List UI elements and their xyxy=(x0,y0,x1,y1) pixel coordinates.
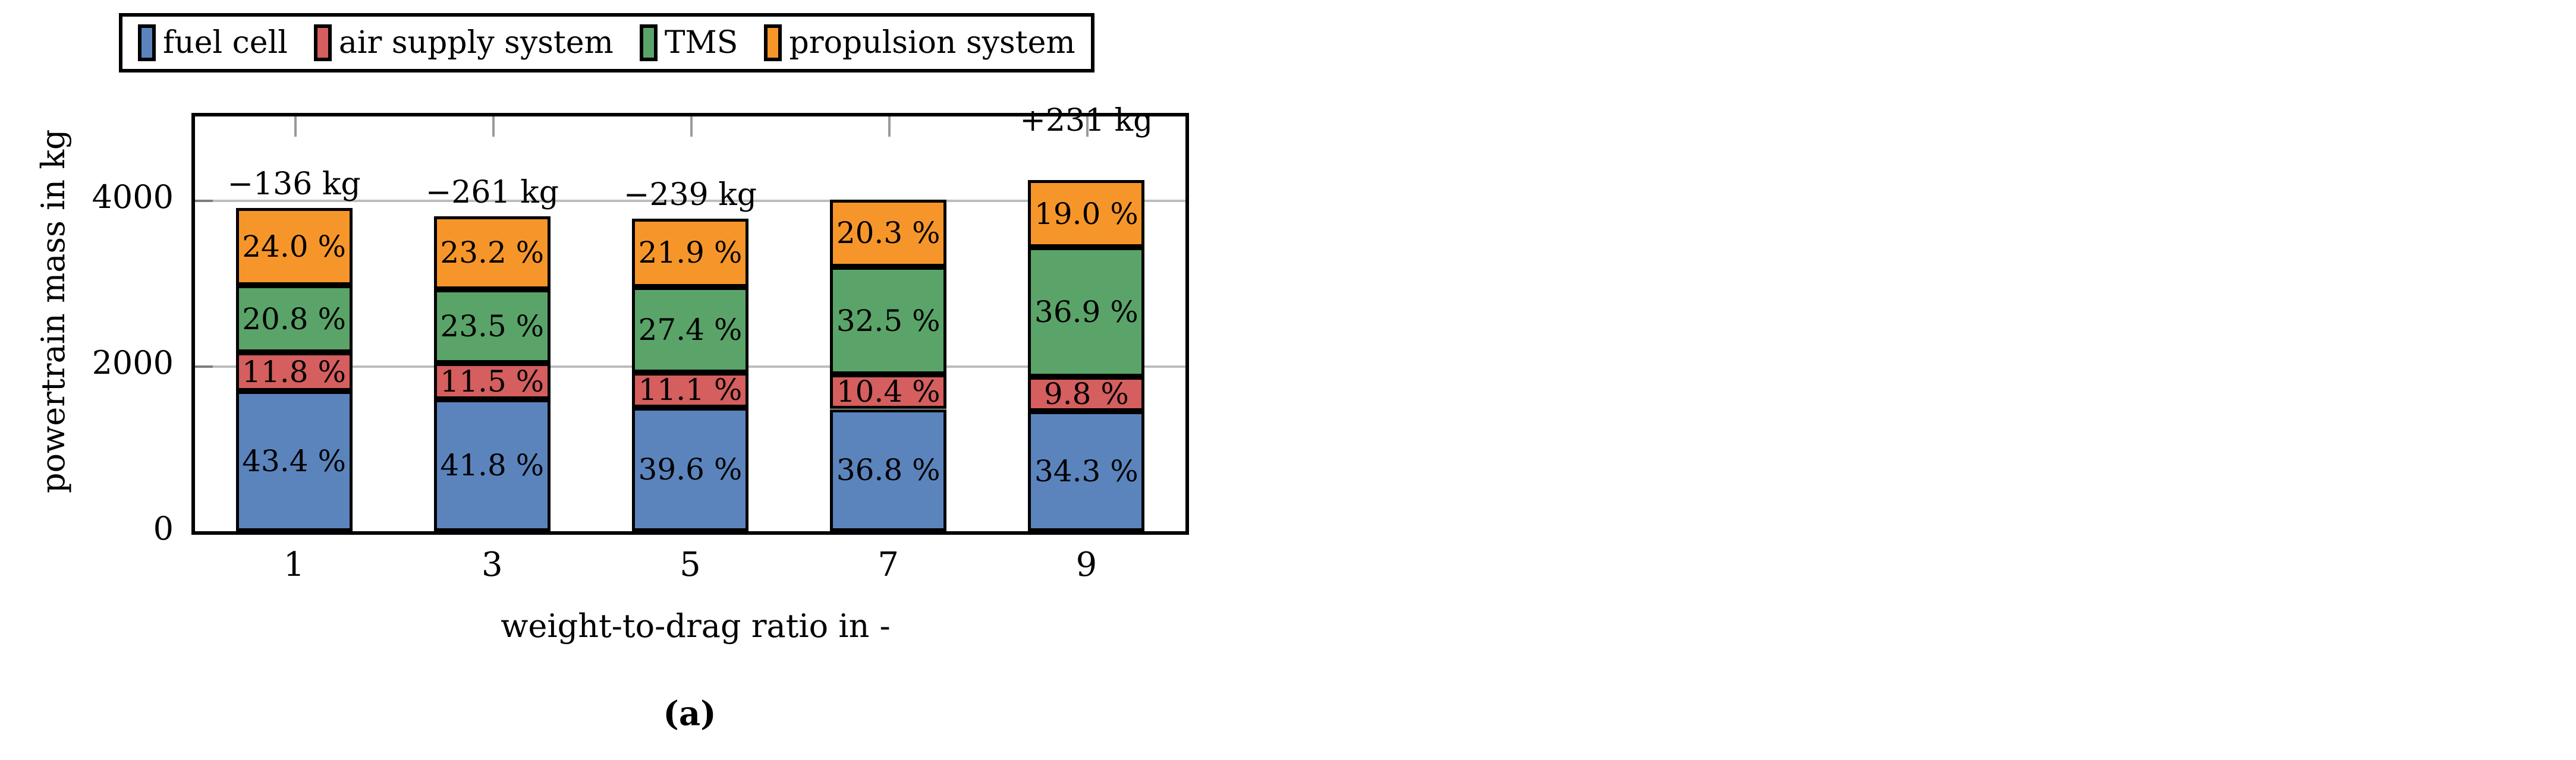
legend-swatch-icon xyxy=(640,24,658,61)
bar-segment-TMS[interactable]: 32.5 % xyxy=(830,267,946,374)
stacked-bar-5[interactable]: 21.9 %27.4 %11.1 %39.6 % xyxy=(632,219,748,531)
panel-a: fuel cellair supply systemTMSpropulsion … xyxy=(0,0,1284,760)
legend-panel-a: fuel cellair supply systemTMSpropulsion … xyxy=(119,13,1094,72)
x-tick-label: 7 xyxy=(829,545,948,584)
legend-label: fuel cell xyxy=(163,27,288,58)
bar-segment-label: 20.3 % xyxy=(836,218,941,248)
bar-segment-label: 9.8 % xyxy=(1044,379,1129,409)
x-tick-label: 5 xyxy=(631,545,750,584)
bar-segment-label: 19.0 % xyxy=(1034,199,1138,229)
bar-segment-label: 11.1 % xyxy=(639,375,743,405)
legend-label: TMS xyxy=(665,27,738,58)
bar-segment-propulsion-system[interactable]: 20.3 % xyxy=(830,200,946,267)
y-tick-label: 600 xyxy=(2564,414,2576,451)
bar-segment-propulsion-system[interactable]: 24.0 % xyxy=(236,208,353,286)
y-tick-label: 4000 xyxy=(0,178,174,216)
bar-segment-fuel-cell[interactable]: 39.6 % xyxy=(632,408,748,531)
bar-segment-label: 36.9 % xyxy=(1034,297,1138,327)
bar-segment-label: 23.2 % xyxy=(440,238,544,267)
bar-segment-fuel-cell[interactable]: 43.4 % xyxy=(236,391,353,531)
x-tick-mark xyxy=(888,116,891,137)
bar-delta-label: −239 kg xyxy=(553,177,827,213)
y-tick-label: 700 xyxy=(2564,269,2576,306)
y-tick-mark xyxy=(195,365,213,368)
bar-segment-TMS[interactable]: 36.9 % xyxy=(1028,247,1144,377)
stacked-bar-3[interactable]: 23.2 %23.5 %11.5 %41.8 % xyxy=(434,216,551,531)
legend-entry-TMS: TMS xyxy=(640,24,738,61)
y-tick-label: 0 xyxy=(2564,507,2576,545)
legend-entry-propulsion-system: propulsion system xyxy=(764,24,1075,61)
legend-swatch-icon xyxy=(138,24,156,61)
x-tick-mark xyxy=(492,116,495,137)
bar-segment-label: 21.9 % xyxy=(639,238,743,267)
bar-segment-propulsion-system[interactable]: 19.0 % xyxy=(1028,180,1144,247)
bar-segment-air-supply-system[interactable]: 11.1 % xyxy=(632,373,748,407)
x-tick-mark xyxy=(690,116,693,137)
bar-segment-air-supply-system[interactable]: 11.8 % xyxy=(236,352,353,390)
bar-segment-air-supply-system[interactable]: 10.4 % xyxy=(830,374,946,409)
stacked-bar-9[interactable]: 19.0 %36.9 %9.8 %34.3 % xyxy=(1028,180,1144,531)
legend-label: propulsion system xyxy=(789,27,1075,58)
bar-segment-fuel-cell[interactable]: 41.8 % xyxy=(434,399,551,531)
bar-segment-air-supply-system[interactable]: 11.5 % xyxy=(434,363,551,399)
legend-entry-air-supply-system: air supply system xyxy=(314,24,614,61)
bar-segment-label: 43.4 % xyxy=(242,446,346,476)
legend-swatch-icon xyxy=(764,24,782,61)
bar-segment-label: 23.5 % xyxy=(440,311,544,341)
x-tick-label: 3 xyxy=(433,545,552,584)
bar-segment-label: 24.0 % xyxy=(242,232,346,261)
legend-label: air supply system xyxy=(339,27,614,58)
bar-segment-label: 36.8 % xyxy=(836,455,941,485)
figure-root: fuel cellair supply systemTMSpropulsion … xyxy=(0,0,2576,760)
bar-segment-label: 39.6 % xyxy=(639,455,743,484)
x-tick-mark xyxy=(294,116,297,137)
panel-b: ISA dayhot day mission fuel in kg weight… xyxy=(1284,0,2576,760)
x-tick-label: 1 xyxy=(235,545,354,584)
bar-segment-TMS[interactable]: 20.8 % xyxy=(236,285,353,352)
bar-segment-TMS[interactable]: 27.4 % xyxy=(632,287,748,373)
bar-delta-label: +231 kg xyxy=(949,103,1223,138)
bar-segment-label: 41.8 % xyxy=(440,450,544,480)
y-tick-label: 800 xyxy=(2564,124,2576,162)
bar-segment-fuel-cell[interactable]: 34.3 % xyxy=(1028,411,1144,532)
bar-segment-label: 20.8 % xyxy=(242,304,346,334)
legend-swatch-icon xyxy=(314,24,332,61)
legend-entry-fuel-cell: fuel cell xyxy=(138,24,288,61)
x-tick-label: 9 xyxy=(1027,545,1146,584)
bar-segment-label: 32.5 % xyxy=(836,306,941,336)
subcaption-a: (a) xyxy=(600,694,779,733)
stacked-bar-1[interactable]: 24.0 %20.8 %11.8 %43.4 % xyxy=(236,208,353,531)
bar-segment-fuel-cell[interactable]: 36.8 % xyxy=(830,409,946,531)
y-tick-label: 2000 xyxy=(0,344,174,381)
bar-segment-TMS[interactable]: 23.5 % xyxy=(434,289,551,364)
bar-segment-label: 11.5 % xyxy=(440,367,544,396)
bar-segment-label: 27.4 % xyxy=(639,315,743,345)
bar-segment-air-supply-system[interactable]: 9.8 % xyxy=(1028,377,1144,411)
bar-segment-propulsion-system[interactable]: 21.9 % xyxy=(632,219,748,287)
bar-segment-propulsion-system[interactable]: 23.2 % xyxy=(434,216,551,289)
bar-segment-label: 11.8 % xyxy=(242,357,346,387)
bar-segment-label: 34.3 % xyxy=(1034,456,1138,486)
stacked-bar-7[interactable]: 20.3 %32.5 %10.4 %36.8 % xyxy=(830,200,946,531)
y-tick-label: 0 xyxy=(0,510,174,547)
bar-segment-label: 10.4 % xyxy=(836,377,941,406)
x-axis-label-a: weight-to-drag ratio in - xyxy=(202,607,1189,645)
